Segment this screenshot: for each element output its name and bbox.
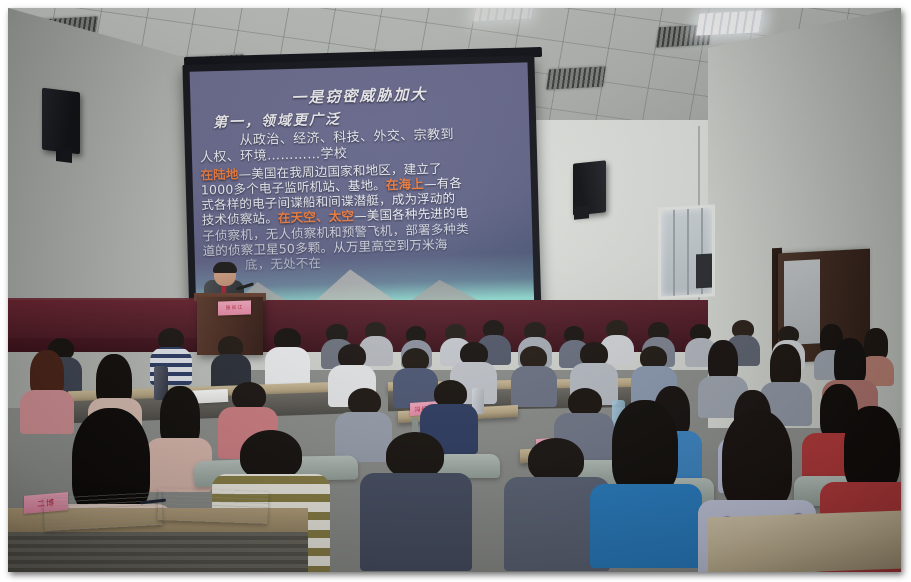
wall-speaker-left-mount <box>56 147 72 163</box>
wall-speaker-left <box>42 88 80 155</box>
presenter-hair <box>213 262 237 273</box>
slide-keyword-land: 在陆地 <box>200 166 239 182</box>
slide-content: 一是窃密威胁加大 第一，领域更广泛 从政治、经济、科技、外交、宗教到 人权、环境… <box>190 62 535 319</box>
foreground-desk-right <box>708 511 901 572</box>
foreground-desk-panel <box>8 532 308 572</box>
window <box>658 204 715 299</box>
ceiling-light <box>696 10 764 35</box>
wall-speaker-right-mount <box>574 205 589 220</box>
slide-body-3: —有各 <box>424 175 463 191</box>
slide-keyword-sea: 在海上 <box>386 176 425 192</box>
window-block <box>696 253 712 288</box>
open-notebook <box>157 488 268 524</box>
screen-surface: 一是窃密威胁加大 第一，领域更广泛 从政治、经济、科技、外交、宗教到 人权、环境… <box>190 62 535 319</box>
photo-frame: 一是窃密威胁加大 第一，领域更广泛 从政治、经济、科技、外交、宗教到 人权、环境… <box>0 0 911 582</box>
podium-name-placard: 张长江 <box>218 300 251 315</box>
open-notebook <box>43 491 163 531</box>
podium-placard-text: 张长江 <box>225 301 243 316</box>
ceiling-vent <box>546 67 605 90</box>
lecture-hall-photo: 一是窃密威胁加大 第一，领域更广泛 从政治、经济、科技、外交、宗教到 人权、环境… <box>8 8 901 572</box>
